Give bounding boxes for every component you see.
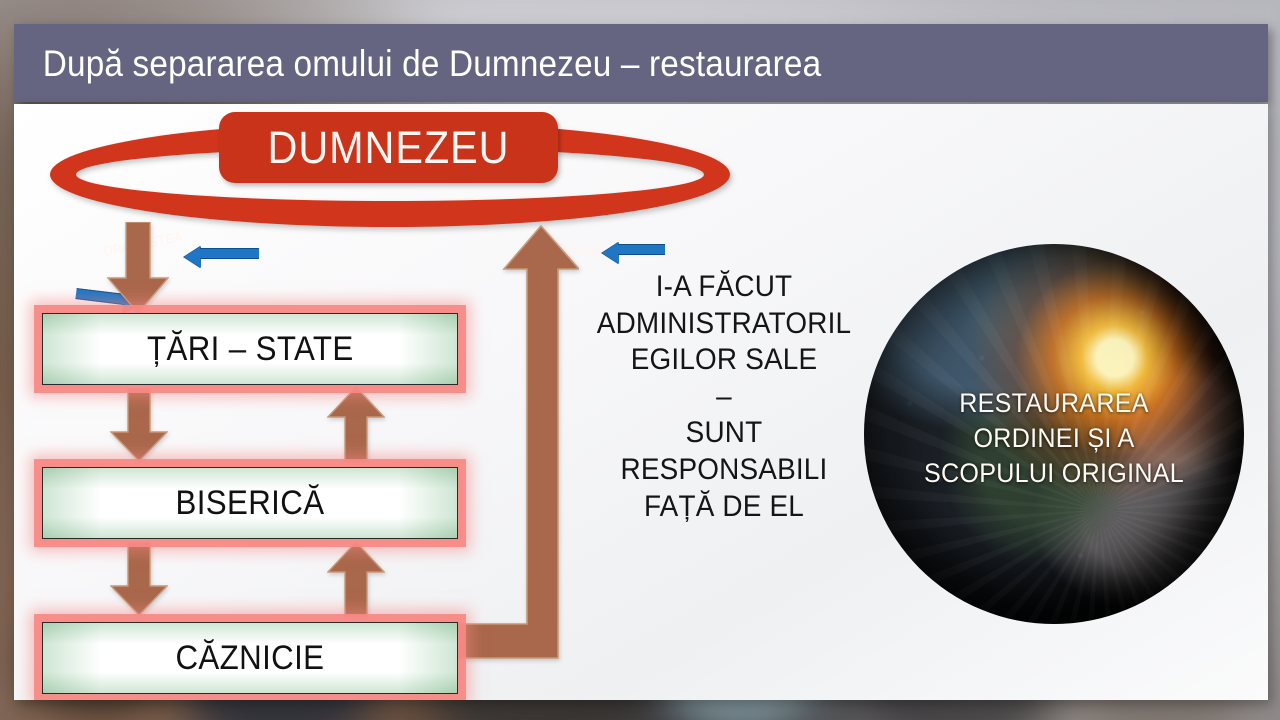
hierarchy-box-caznicie: CĂZNICIE [42, 622, 458, 694]
arrow-shaft [200, 248, 259, 259]
connector-arrow-biserica-to-tari [327, 386, 385, 462]
connector-arrow-biserica-to-caznicie [110, 542, 168, 616]
connector-arrow-tari-to-biserica [110, 388, 168, 462]
hierarchy-box-tari-state: ȚĂRI – STATE [42, 313, 458, 385]
globe-graphic: RESTAURAREA ORDINEI ȘI A SCOPULUI ORIGIN… [864, 244, 1244, 624]
statement-line: FAȚĂ DE EL [585, 489, 864, 526]
slide-title-bar: După separarea omului de Dumnezeu – rest… [14, 24, 1268, 102]
connector-arrow-caznicie-to-biserica [327, 541, 385, 617]
cycle-center-node: DUMNEZEU [219, 112, 558, 183]
hierarchy-box-biserica: BISERICĂ [42, 467, 458, 539]
arrow-shaft [618, 244, 665, 255]
globe-shading [864, 244, 1244, 624]
slide-content-card: DRAGOSTEA ROADĂ CUVÂNTUL LUI DUMNEZEU DU… [14, 104, 1268, 700]
statement-line: ADMINISTRATORIL [585, 306, 864, 343]
cycle-center-label: DUMNEZEU [268, 122, 510, 174]
statement-text-block: I-A FĂCUT ADMINISTRATORIL EGILOR SALE – … [574, 269, 874, 525]
slide-content-clip: DRAGOSTEA ROADĂ CUVÂNTUL LUI DUMNEZEU DU… [14, 104, 1268, 700]
statement-line: EGILOR SALE [585, 342, 864, 379]
arrow-head [602, 242, 619, 264]
statement-line: RESPONSABILI [585, 452, 864, 489]
hierarchy-box-label: CĂZNICIE [176, 639, 325, 678]
connector-arrow-ring-to-tari [107, 222, 169, 314]
page-title: După separarea omului de Dumnezeu – rest… [14, 45, 821, 82]
globe-sphere [864, 244, 1244, 624]
statement-line: SUNT [585, 415, 864, 452]
statement-line: I-A FĂCUT [585, 269, 864, 306]
slide-canvas: După separarea omului de Dumnezeu – rest… [0, 0, 1280, 720]
arrow-head [184, 246, 201, 268]
connector-arrow-caznicie-to-ring [444, 224, 579, 659]
hierarchy-box-label: ȚĂRI – STATE [147, 330, 354, 369]
statement-line: – [585, 379, 864, 416]
hierarchy-box-label: BISERICĂ [176, 484, 325, 523]
